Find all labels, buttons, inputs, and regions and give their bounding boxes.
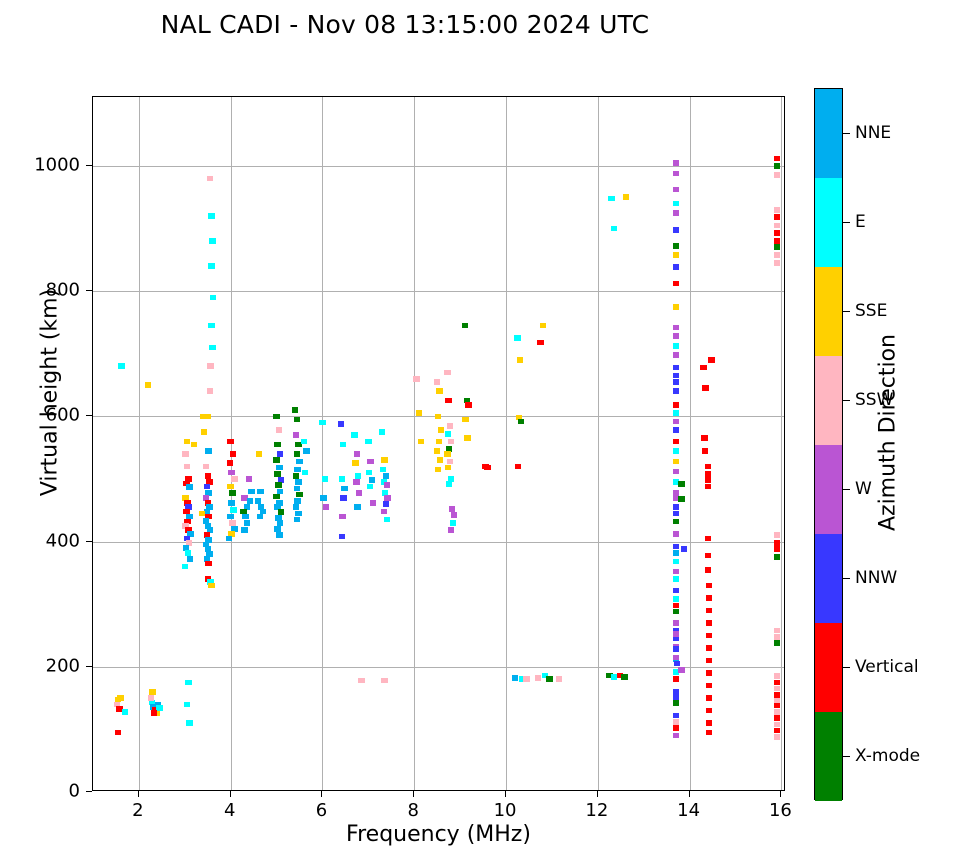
scatter-point: [352, 460, 358, 466]
scatter-point: [774, 244, 780, 250]
scatter-point: [156, 705, 162, 711]
scatter-point: [706, 633, 712, 639]
ionogram-plot-area: [92, 96, 785, 791]
scatter-point: [383, 501, 389, 507]
colorbar-tick: [843, 578, 850, 580]
scatter-point: [673, 373, 679, 379]
scatter-point: [774, 156, 780, 162]
scatter-point: [451, 512, 457, 518]
scatter-point: [673, 160, 679, 166]
scatter-point: [706, 583, 712, 589]
scatter-point: [774, 640, 780, 646]
x-axis-tick: [138, 791, 139, 797]
scatter-point: [294, 417, 300, 423]
scatter-point: [673, 388, 679, 394]
scatter-point: [774, 214, 780, 220]
scatter-point: [681, 546, 687, 552]
scatter-point: [774, 252, 780, 258]
colorbar-segment-e: [815, 178, 842, 267]
colorbar-label-w: W: [855, 479, 872, 499]
x-axis-tick-label: 6: [316, 800, 327, 821]
scatter-point: [449, 506, 455, 512]
x-axis-tick: [689, 791, 690, 797]
scatter-point: [621, 674, 627, 680]
scatter-point: [274, 526, 280, 532]
scatter-point: [705, 536, 711, 542]
scatter-point: [273, 457, 279, 463]
scatter-point: [381, 457, 387, 463]
scatter-point: [774, 686, 780, 692]
scatter-point: [673, 550, 679, 556]
scatter-point: [774, 628, 780, 634]
scatter-point: [302, 470, 308, 476]
scatter-point: [518, 419, 524, 425]
scatter-point: [673, 713, 679, 719]
scatter-point: [673, 410, 679, 416]
colorbar-label-nne: NNE: [855, 123, 891, 143]
scatter-point: [678, 496, 684, 502]
scatter-point: [673, 569, 679, 575]
scatter-point: [446, 481, 452, 487]
scatter-point: [705, 484, 711, 490]
scatter-point: [774, 230, 780, 236]
scatter-point: [434, 448, 440, 454]
scatter-point: [358, 678, 364, 684]
scatter-point: [608, 196, 614, 202]
scatter-point: [706, 620, 712, 626]
scatter-point: [273, 414, 279, 420]
scatter-point: [201, 429, 207, 435]
scatter-point: [673, 469, 679, 475]
scatter-point: [247, 498, 253, 504]
scatter-point: [294, 517, 300, 523]
scatter-point: [320, 495, 326, 501]
scatter-point: [673, 243, 679, 249]
x-axis-tick: [780, 791, 781, 797]
page-title: NAL CADI - Nov 08 13:15:00 2024 UTC: [0, 10, 810, 39]
scatter-point: [319, 420, 325, 426]
scatter-point: [413, 376, 419, 382]
scatter-point: [673, 700, 679, 706]
colorbar-segment-nne: [815, 89, 842, 178]
scatter-point: [293, 473, 299, 479]
scatter-point: [673, 588, 679, 594]
scatter-points-layer: [93, 97, 784, 790]
x-axis-tick-label: 8: [408, 800, 419, 821]
scatter-point: [673, 459, 679, 465]
scatter-point: [484, 465, 490, 471]
scatter-point: [774, 634, 780, 640]
scatter-point: [367, 484, 373, 490]
scatter-point: [774, 223, 780, 229]
colorbar-segment-nnw: [815, 534, 842, 623]
x-axis-title: Frequency (MHz): [92, 822, 785, 847]
y-axis-tick-label: 1000: [34, 154, 80, 175]
scatter-point: [366, 470, 372, 476]
y-axis-tick: [86, 791, 92, 792]
scatter-point: [673, 281, 679, 287]
colorbar-title: Azimuth Direction: [876, 233, 901, 633]
scatter-point: [673, 603, 679, 609]
scatter-point: [611, 226, 617, 232]
scatter-point: [673, 352, 679, 358]
scatter-point: [673, 439, 679, 445]
scatter-point: [293, 504, 299, 510]
scatter-point: [379, 429, 385, 435]
scatter-point: [227, 439, 233, 445]
x-axis-tick: [321, 791, 322, 797]
scatter-point: [186, 720, 192, 726]
colorbar-segment-x-mode: [815, 712, 842, 801]
scatter-point: [277, 451, 283, 457]
scatter-point: [384, 517, 390, 523]
scatter-point: [705, 553, 711, 559]
scatter-point: [464, 435, 470, 441]
scatter-point: [117, 695, 123, 701]
scatter-point: [230, 451, 236, 457]
scatter-point: [185, 680, 191, 686]
colorbar-label-vertical: Vertical: [855, 657, 919, 677]
scatter-point: [706, 695, 712, 701]
colorbar-label-x-mode: X-mode: [855, 746, 920, 766]
scatter-point: [673, 227, 679, 233]
scatter-point: [323, 504, 329, 510]
scatter-point: [673, 733, 679, 739]
scatter-point: [303, 448, 309, 454]
scatter-point: [673, 544, 679, 550]
scatter-point: [434, 379, 440, 385]
scatter-point: [774, 207, 780, 213]
y-axis-tick: [86, 415, 92, 416]
scatter-point: [185, 550, 191, 556]
scatter-point: [673, 646, 679, 652]
colorbar-segment-vertical: [815, 623, 842, 712]
scatter-point: [248, 489, 254, 495]
scatter-point: [523, 676, 529, 682]
scatter-point: [354, 451, 360, 457]
scatter-point: [774, 734, 780, 740]
scatter-point: [370, 500, 376, 506]
colorbar: [814, 88, 843, 800]
scatter-point: [465, 402, 471, 408]
scatter-point: [673, 419, 679, 425]
scatter-point: [512, 675, 518, 681]
scatter-point: [673, 655, 679, 661]
colorbar-tick: [843, 400, 850, 402]
scatter-point: [339, 476, 345, 482]
scatter-point: [673, 719, 679, 725]
y-axis-title: Virtual height (km): [38, 193, 63, 593]
scatter-point: [208, 213, 214, 219]
x-axis-tick: [230, 791, 231, 797]
scatter-point: [277, 520, 283, 526]
scatter-point: [673, 304, 679, 310]
scatter-point: [673, 511, 679, 517]
x-axis-tick-label: 10: [494, 800, 517, 821]
scatter-point: [705, 464, 711, 470]
x-axis-tick: [597, 791, 598, 797]
scatter-point: [294, 467, 300, 473]
scatter-point: [774, 709, 780, 715]
scatter-point: [340, 495, 346, 501]
colorbar-label-e: E: [855, 212, 866, 232]
scatter-point: [673, 210, 679, 216]
scatter-point: [354, 504, 360, 510]
scatter-point: [255, 498, 261, 504]
scatter-point: [145, 382, 151, 388]
scatter-point: [182, 564, 188, 570]
scatter-point: [351, 432, 357, 438]
scatter-point: [209, 238, 215, 244]
x-axis-tick-label: 16: [769, 800, 792, 821]
scatter-point: [701, 435, 707, 441]
x-axis-tick: [413, 791, 414, 797]
scatter-point: [774, 728, 780, 734]
scatter-point: [242, 514, 248, 520]
colorbar-tick: [843, 133, 850, 135]
scatter-point: [294, 498, 300, 504]
scatter-point: [184, 702, 190, 708]
scatter-point: [340, 442, 346, 448]
scatter-point: [515, 464, 521, 470]
scatter-point: [227, 514, 233, 520]
scatter-point: [437, 457, 443, 463]
scatter-point: [674, 661, 680, 667]
scatter-point: [673, 725, 679, 731]
scatter-point: [673, 631, 679, 637]
scatter-point: [228, 500, 234, 506]
scatter-point: [706, 595, 712, 601]
scatter-point: [706, 708, 712, 714]
scatter-point: [705, 567, 711, 573]
scatter-point: [273, 494, 279, 500]
scatter-point: [151, 710, 157, 716]
scatter-point: [445, 398, 451, 404]
scatter-point: [673, 252, 679, 258]
scatter-point: [708, 357, 714, 363]
scatter-point: [678, 481, 684, 487]
x-axis-tick-label: 12: [585, 800, 608, 821]
scatter-point: [514, 335, 520, 341]
scatter-point: [384, 482, 390, 488]
scatter-point: [207, 176, 213, 182]
scatter-point: [673, 333, 679, 339]
scatter-point: [445, 465, 451, 471]
scatter-point: [673, 201, 679, 207]
scatter-point: [256, 451, 262, 457]
scatter-point: [227, 484, 233, 490]
scatter-point: [191, 442, 197, 448]
colorbar-tick: [843, 756, 850, 758]
scatter-point: [380, 467, 386, 473]
scatter-point: [537, 340, 543, 346]
scatter-point: [203, 464, 209, 470]
scatter-point: [435, 414, 441, 420]
scatter-point: [184, 464, 190, 470]
scatter-point: [122, 709, 128, 715]
scatter-point: [118, 363, 124, 369]
scatter-point: [205, 448, 211, 454]
scatter-point: [205, 473, 211, 479]
scatter-point: [705, 471, 711, 477]
scatter-point: [448, 527, 454, 533]
y-axis-tick: [86, 666, 92, 667]
scatter-point: [702, 385, 708, 391]
scatter-point: [774, 540, 780, 546]
scatter-point: [384, 495, 390, 501]
scatter-point: [673, 343, 679, 349]
scatter-point: [673, 576, 679, 582]
scatter-point: [200, 414, 206, 420]
scatter-point: [774, 673, 780, 679]
scatter-point: [365, 439, 371, 445]
scatter-point: [706, 658, 712, 664]
scatter-point: [210, 295, 216, 301]
scatter-point: [673, 264, 679, 270]
scatter-point: [673, 187, 679, 193]
scatter-point: [706, 608, 712, 614]
scatter-point: [226, 536, 232, 542]
scatter-point: [208, 583, 214, 589]
scatter-point: [275, 482, 281, 488]
scatter-point: [673, 427, 679, 433]
scatter-point: [447, 423, 453, 429]
scatter-point: [295, 511, 301, 517]
scatter-point: [257, 514, 263, 520]
scatter-point: [301, 439, 307, 445]
scatter-point: [244, 520, 250, 526]
scatter-point: [448, 439, 454, 445]
scatter-point: [205, 561, 211, 567]
scatter-point: [700, 365, 706, 371]
scatter-point: [228, 470, 234, 476]
colorbar-segment-w: [815, 445, 842, 534]
scatter-point: [182, 451, 188, 457]
scatter-point: [673, 559, 679, 565]
scatter-point: [774, 692, 780, 698]
scatter-point: [673, 365, 679, 371]
scatter-point: [774, 163, 780, 169]
scatter-point: [229, 520, 235, 526]
scatter-point: [774, 703, 780, 709]
scatter-point: [208, 263, 214, 269]
scatter-point: [774, 554, 780, 560]
scatter-point: [274, 442, 280, 448]
scatter-point: [436, 388, 442, 394]
scatter-point: [705, 477, 711, 483]
scatter-point: [355, 473, 361, 479]
scatter-point: [356, 490, 362, 496]
scatter-point: [294, 451, 300, 457]
x-axis-tick-label: 14: [677, 800, 700, 821]
x-axis-tick-label: 2: [132, 800, 143, 821]
scatter-point: [209, 345, 215, 351]
x-axis-tick: [505, 791, 506, 797]
y-axis-tick: [86, 290, 92, 291]
scatter-point: [296, 492, 302, 498]
y-axis-tick-label: 200: [46, 655, 80, 676]
scatter-point: [445, 431, 451, 437]
y-axis-tick: [86, 165, 92, 166]
scatter-point: [184, 439, 190, 445]
scatter-point: [381, 678, 387, 684]
scatter-point: [369, 477, 375, 483]
scatter-point: [447, 459, 453, 465]
scatter-point: [673, 402, 679, 408]
scatter-point: [623, 194, 629, 200]
scatter-point: [706, 670, 712, 676]
scatter-point: [673, 620, 679, 626]
scatter-point: [673, 596, 679, 602]
scatter-point: [296, 459, 302, 465]
scatter-point: [230, 507, 236, 513]
scatter-point: [774, 722, 780, 728]
scatter-point: [556, 676, 562, 682]
scatter-point: [241, 527, 247, 533]
scatter-point: [338, 421, 344, 427]
y-axis-tick: [86, 541, 92, 542]
scatter-point: [295, 479, 301, 485]
scatter-point: [673, 609, 679, 615]
scatter-point: [774, 260, 780, 266]
scatter-point: [673, 531, 679, 537]
scatter-point: [246, 476, 252, 482]
scatter-point: [774, 238, 780, 244]
scatter-point: [187, 556, 193, 562]
scatter-point: [381, 509, 387, 515]
scatter-point: [418, 439, 424, 445]
scatter-point: [517, 357, 523, 363]
colorbar-segment-ssw: [815, 356, 842, 445]
scatter-point: [276, 465, 282, 471]
scatter-point: [673, 448, 679, 454]
scatter-point: [148, 695, 154, 701]
scatter-point: [702, 448, 708, 454]
scatter-point: [341, 486, 347, 492]
scatter-point: [673, 676, 679, 682]
scatter-point: [204, 484, 210, 490]
scatter-point: [673, 171, 679, 177]
scatter-point: [706, 645, 712, 651]
colorbar-tick: [843, 222, 850, 224]
scatter-point: [706, 683, 712, 689]
scatter-point: [673, 694, 679, 700]
scatter-point: [339, 534, 345, 540]
scatter-point: [774, 172, 780, 178]
scatter-point: [276, 532, 282, 538]
scatter-point: [535, 675, 541, 681]
scatter-point: [673, 379, 679, 385]
scatter-point: [673, 519, 679, 525]
scatter-point: [444, 451, 450, 457]
scatter-point: [444, 370, 450, 376]
scatter-point: [322, 476, 328, 482]
scatter-point: [353, 479, 359, 485]
scatter-point: [546, 676, 552, 682]
scatter-point: [257, 489, 263, 495]
scatter-point: [207, 388, 213, 394]
scatter-point: [276, 427, 282, 433]
x-axis-tick-label: 4: [224, 800, 235, 821]
scatter-point: [436, 439, 442, 445]
scatter-point: [774, 680, 780, 686]
scatter-point: [149, 689, 155, 695]
y-axis-tick-label: 0: [69, 781, 80, 802]
scatter-point: [435, 467, 441, 473]
scatter-point: [540, 323, 546, 329]
scatter-point: [706, 720, 712, 726]
scatter-point: [227, 460, 233, 466]
